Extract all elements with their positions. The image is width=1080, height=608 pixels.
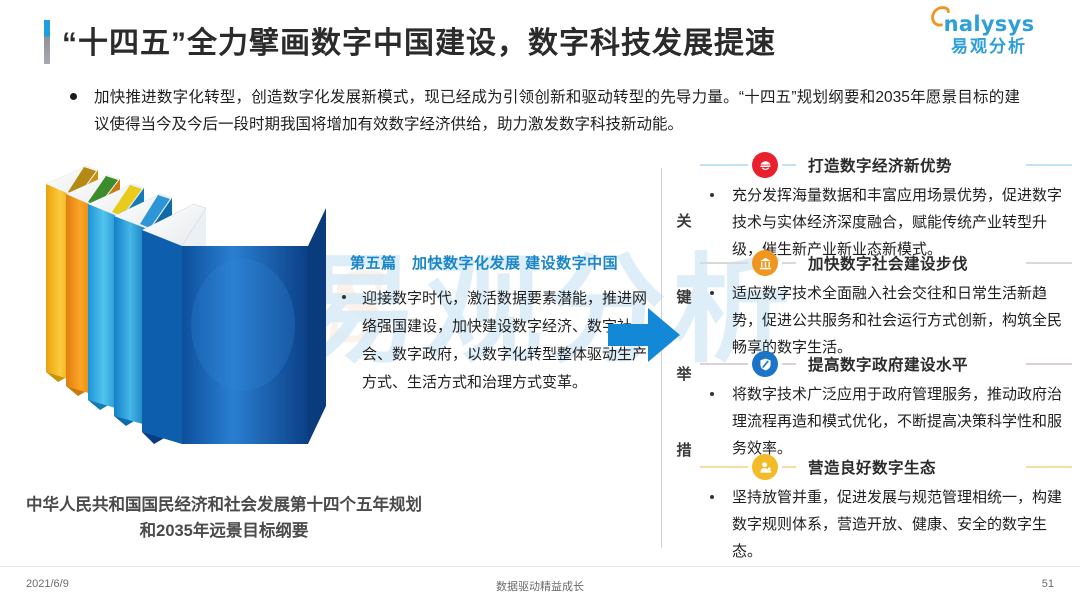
analysys-logo-swirl-icon <box>930 6 952 30</box>
vertical-label-char-1: 键 <box>676 286 691 307</box>
connector-line-left <box>700 262 748 264</box>
connector-line-left <box>700 466 748 468</box>
logo-chinese-text: 易观分析 <box>924 36 1054 58</box>
footer-divider <box>0 566 1080 567</box>
bullet-dot-icon <box>70 93 77 100</box>
footer-slogan: 数据驱动精益成长 <box>0 578 1080 594</box>
measure-header-0: 打造数字经济新优势 <box>700 150 1072 178</box>
bullet-dot-icon <box>342 295 346 299</box>
orange-bank-badge-icon <box>752 250 778 276</box>
connector-line-mid <box>782 466 796 468</box>
page-title: “十四五”全力擘画数字中国建设，数字科技发展提速 <box>62 18 776 62</box>
bullet-dot-icon <box>710 392 714 396</box>
connector-line-mid <box>782 262 796 264</box>
measure-title-1: 加快数字社会建设步伐 <box>808 252 968 274</box>
measure-title-3: 营造良好数字生态 <box>808 456 936 478</box>
section-heading-chapter5: 第五篇 加快数字化发展 建设数字中国 <box>350 252 650 273</box>
bullet-dot-icon <box>710 495 714 499</box>
badge-glyph <box>758 256 773 271</box>
title-row: “十四五”全力擘画数字中国建设，数字科技发展提速 <box>0 0 1080 80</box>
connector-line-right <box>1026 164 1072 166</box>
red-circle-badge-icon <box>752 152 778 178</box>
badge-glyph <box>758 158 773 173</box>
connector-line-right <box>1026 466 1072 468</box>
bullet-dot-icon <box>710 193 714 197</box>
badge-glyph <box>758 460 773 475</box>
measure-body-2: 将数字技术广泛应用于政府管理服务，推动政府治理流程再造和模式优化，不断提高决策科… <box>700 381 1072 462</box>
measure-block-3: 营造良好数字生态 坚持放管并重，促进发展与规范管理相统一，构建数字规则体系，营造… <box>700 452 1072 565</box>
measure-text-3: 坚持放管并重，促进发展与规范管理相统一，构建数字规则体系，营造开放、健康、安全的… <box>732 484 1072 565</box>
connector-line-right <box>1026 363 1072 365</box>
connector-line-right <box>1026 262 1072 264</box>
intro-text: 加快推进数字化转型，创造数字化发展新模式，现已经成为引领创新和驱动转型的先导力量… <box>94 84 1020 138</box>
measure-header-1: 加快数字社会建设步伐 <box>700 248 1072 276</box>
yellow-person-badge-icon <box>752 454 778 480</box>
measure-block-1: 加快数字社会建设步伐 适应数字技术全面融入社会交往和日常生活新趋势，促进公共服务… <box>700 248 1072 361</box>
vertical-label-char-3: 措 <box>676 439 691 460</box>
slide-root: s 易观分析 “十四五”全力擘画数字中国建设，数字科技发展提速 nalysys … <box>0 0 1080 608</box>
logo-word-text: nalysys <box>944 12 1035 36</box>
logo-wordmark: nalysys <box>924 12 1054 36</box>
measure-block-2: 提高数字政府建设水平 将数字技术广泛应用于政府管理服务，推动政府治理流程再造和模… <box>700 349 1072 462</box>
connector-line-left <box>700 164 748 166</box>
measure-title-0: 打造数字经济新优势 <box>808 154 952 176</box>
connector-line-mid <box>782 164 796 166</box>
section-body-chapter5: 迎接数字时代，激活数据要素潜能，推进网络强国建设，加快建设数字经济、数字社会、数… <box>340 285 652 397</box>
bullet-dot-icon <box>710 291 714 295</box>
measure-block-0: 打造数字经济新优势 充分发挥海量数据和丰富应用场景优势，促进数字技术与实体经济深… <box>700 150 1072 263</box>
intro-paragraph: 加快推进数字化转型，创造数字化发展新模式，现已经成为引领创新和驱动转型的先导力量… <box>60 84 1020 138</box>
badge-glyph <box>758 357 773 372</box>
measure-body-3: 坚持放管并重，促进发展与规范管理相统一，构建数字规则体系，营造开放、健康、安全的… <box>700 484 1072 565</box>
measure-text-2: 将数字技术广泛应用于政府管理服务，推动政府治理流程再造和模式优化，不断提高决策科… <box>732 381 1072 462</box>
stacked-books-icon <box>38 160 338 490</box>
blue-shield-badge-icon <box>752 351 778 377</box>
connector-line-mid <box>782 363 796 365</box>
right-arrow-icon <box>608 306 680 364</box>
brand-logo: nalysys 易观分析 <box>924 12 1054 64</box>
measure-header-3: 营造良好数字生态 <box>700 452 1072 480</box>
vertical-label-char-0: 关 <box>676 210 691 231</box>
books-caption: 中华人民共和国国民经济和社会发展第十四个五年规划和2035年远景目标纲要 <box>24 492 424 544</box>
vertical-label-char-2: 举 <box>676 363 691 384</box>
measure-header-2: 提高数字政府建设水平 <box>700 349 1072 377</box>
footer-page-number: 51 <box>1042 578 1054 590</box>
connector-line-left <box>700 363 748 365</box>
title-accent-bar <box>44 20 50 64</box>
footer: 2021/6/9 数据驱动精益成长 51 <box>0 575 1080 599</box>
measure-title-2: 提高数字政府建设水平 <box>808 353 968 375</box>
